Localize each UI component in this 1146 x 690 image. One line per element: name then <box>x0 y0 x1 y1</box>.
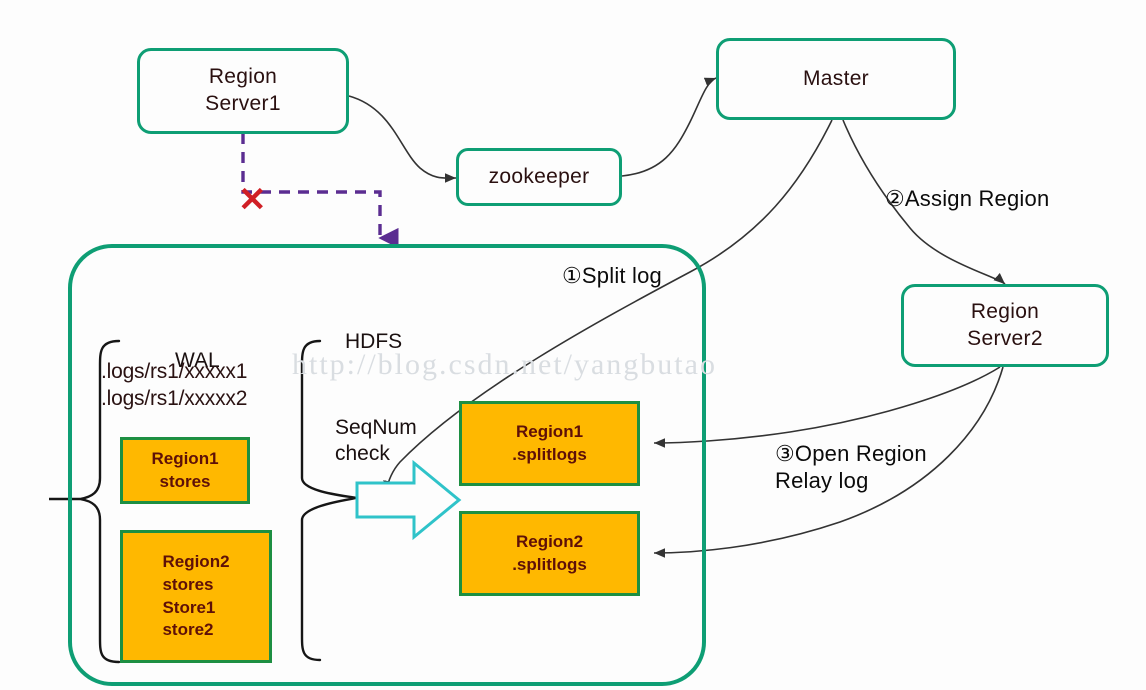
store-box-region2-splitlogs[interactable]: Region2 .splitlogs <box>459 511 640 596</box>
connector-zookeeper-to-master <box>622 78 716 176</box>
step-label-open-region-relay-log: ③Open Region Relay log <box>775 441 927 495</box>
step-label-split-log: ①Split log <box>562 263 662 290</box>
store-box-region2-stores[interactable]: Region2 stores Store1 store2 <box>120 530 272 663</box>
wal-file-list: .logs/rs1/xxxxx1 .logs/rs1/xxxxx2 <box>101 358 247 413</box>
connector-regionserver1-to-zookeeper <box>349 96 456 178</box>
node-region-server-2[interactable]: Region Server2 <box>901 284 1109 367</box>
step-label-assign-region: ②Assign Region <box>885 186 1049 213</box>
failure-x-marker: ✕ <box>238 183 267 217</box>
store-box-region1-stores[interactable]: Region1 stores <box>120 437 250 504</box>
store-box-region1-stores-label: Region1 stores <box>151 448 218 494</box>
node-region-server-1-label: Region Server1 <box>205 64 281 118</box>
node-region-server-2-label: Region Server2 <box>967 299 1043 353</box>
store-box-region1-splitlogs[interactable]: Region1 .splitlogs <box>459 401 640 486</box>
hdfs-label: HDFS <box>345 303 402 356</box>
node-zookeeper-label: zookeeper <box>489 164 590 191</box>
node-region-server-1[interactable]: Region Server1 <box>137 48 349 134</box>
seqnum-check-label: SeqNum check <box>335 415 417 468</box>
node-zookeeper[interactable]: zookeeper <box>456 148 622 206</box>
store-box-region2-stores-label: Region2 stores Store1 store2 <box>162 551 229 643</box>
node-master-label: Master <box>803 66 869 93</box>
store-box-region1-splitlogs-label: Region1 .splitlogs <box>512 421 587 467</box>
node-master[interactable]: Master <box>716 38 956 120</box>
store-box-region2-splitlogs-label: Region2 .splitlogs <box>512 531 587 577</box>
diagram-canvas: Region Server1 zookeeper Master Region S… <box>0 0 1146 690</box>
hdfs-label-text: HDFS <box>345 330 402 353</box>
